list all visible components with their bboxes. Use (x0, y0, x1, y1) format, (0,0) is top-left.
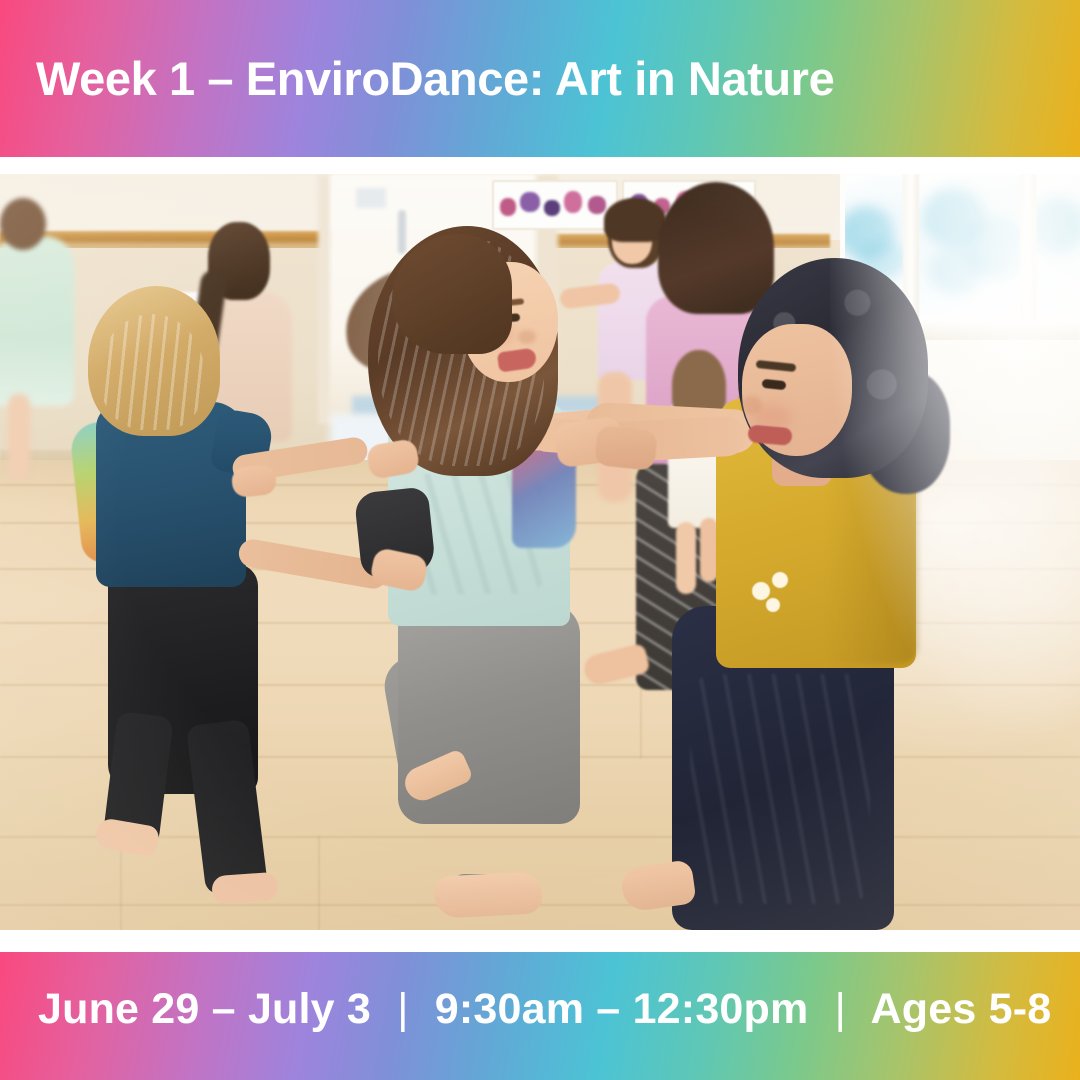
bare-foot (211, 872, 279, 905)
window-mullion-2 (1020, 174, 1036, 324)
page-title: Week 1 – EnviroDance: Art in Nature (36, 47, 834, 111)
blonde-hair (88, 286, 220, 436)
promo-poster: Week 1 – EnviroDance: Art in Nature (0, 0, 1080, 1080)
window-pane-3 (1036, 176, 1080, 316)
door-handle (398, 210, 406, 254)
door-panel (356, 188, 386, 208)
footer-details: June 29 – July 3 | 9:30am – 12:30pm | Ag… (38, 978, 1051, 1040)
class-photo (0, 174, 1080, 930)
footer-separator-2: | (821, 978, 860, 1040)
bare-foot (433, 871, 543, 919)
footer-time: 9:30am – 12:30pm (435, 985, 809, 1033)
footer-ages: Ages 5-8 (871, 985, 1052, 1033)
window-pane-2 (918, 176, 1023, 316)
footer-dates: June 29 – July 3 (38, 985, 371, 1033)
wall-artwork-left (492, 180, 618, 230)
footer-separator-1: | (383, 978, 422, 1040)
